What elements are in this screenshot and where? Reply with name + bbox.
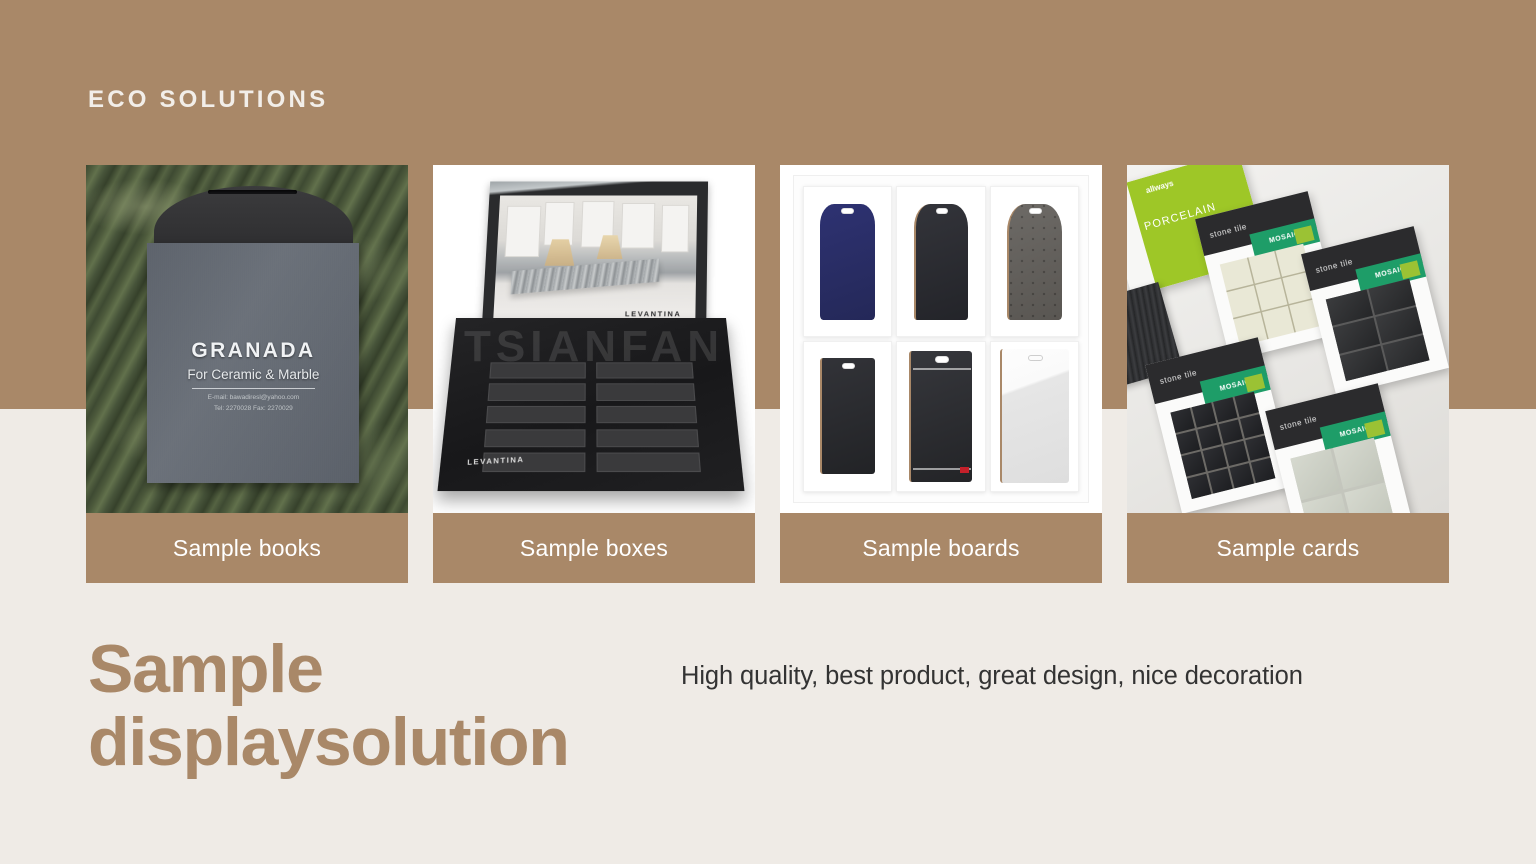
swatch-tile: [1203, 447, 1227, 472]
caption-sample-boxes: Sample boxes: [433, 513, 755, 583]
board-handle-slot: [1029, 208, 1042, 214]
swatch-tile: [1187, 474, 1211, 499]
sample-boards-photo: [780, 165, 1102, 513]
board-red-accent: [960, 467, 970, 472]
caption-sample-cards: Sample cards: [1127, 513, 1449, 583]
sample-cards-row: GRANADA For Ceramic & Marble E-mail: baw…: [86, 165, 1450, 583]
swatch-tile: [1208, 469, 1232, 494]
box-compartment: [489, 362, 586, 378]
swatch-tile: [1230, 464, 1254, 489]
box-lid-kitchen-photo: LEVANTINA: [493, 196, 697, 331]
book-contact-line-1: E-mail: bawadiresl@yahoo.com: [147, 393, 359, 402]
card-brand-label: stone tile: [1315, 257, 1354, 275]
swatch-tile: [1192, 403, 1216, 428]
box-compartment: [596, 384, 695, 401]
swatch-tile: [1290, 448, 1341, 500]
swatch-tile: [1333, 438, 1384, 490]
eyebrow-label: ECO SOLUTIONS: [88, 86, 328, 114]
caption-sample-boards: Sample boards: [780, 513, 1102, 583]
sample-card-boxes[interactable]: LEVANTINA: [433, 165, 755, 583]
swatch-tile: [1182, 452, 1206, 477]
kitchen-cabinet: [621, 204, 656, 249]
sample-card-cards[interactable]: allways PORCELAIN stone tile MOSAIC st: [1127, 165, 1449, 583]
boards-grid: [803, 186, 1080, 492]
boards-frame: [793, 175, 1089, 502]
swatch-tile: [1224, 442, 1248, 467]
board-thumb: [896, 186, 986, 337]
kitchen-granite-counter: [511, 259, 660, 295]
board-thumb: [990, 186, 1080, 337]
card-brand-label: stone tile: [1279, 414, 1318, 432]
sample-book-object: GRANADA For Ceramic & Marble E-mail: baw…: [141, 186, 366, 489]
box-compartment: [487, 384, 586, 401]
board-black-arched: [914, 204, 968, 320]
page-tagline: High quality, best product, great design…: [681, 662, 1303, 691]
swatch-tile: [1245, 436, 1269, 461]
book-handle-slot: [208, 190, 297, 194]
mosaic-card-dark: stone tile MOSAIC: [1301, 226, 1449, 396]
card-brand-label: stone tile: [1159, 369, 1198, 387]
board-gray-dotted: [1007, 204, 1061, 320]
box-compartment: [483, 429, 585, 447]
swatch-tile: [1176, 430, 1200, 455]
swatch-black-mosaic: [1171, 392, 1276, 499]
book-brand-label: GRANADA: [147, 339, 359, 363]
box-base: LEVANTINA: [437, 318, 745, 491]
board-thumb: [990, 341, 1080, 492]
sample-card-boards[interactable]: Sample boards: [780, 165, 1102, 583]
box-compartment: [596, 453, 700, 472]
slide-root: ECO SOLUTIONS GRANADA For Ceramic & Marb…: [0, 0, 1536, 864]
board-stripe: [913, 368, 970, 370]
card-brand-label: stone tile: [1208, 222, 1247, 240]
sample-cards-photo: allways PORCELAIN stone tile MOSAIC st: [1127, 165, 1449, 513]
kitchen-cabinet: [505, 206, 541, 257]
sample-card-books[interactable]: GRANADA For Ceramic & Marble E-mail: baw…: [86, 165, 408, 583]
box-compartment-grid: [482, 362, 700, 472]
swatch-tile: [1219, 420, 1243, 445]
swatch-pale-mosaic: [1290, 438, 1395, 513]
swatch-tile: [1240, 414, 1264, 439]
board-handle-slot: [936, 208, 949, 214]
board-handle-slot: [1028, 355, 1044, 362]
mosaic-card-pale: stone tile MOSAIC: [1265, 383, 1415, 513]
book-subtitle-label: For Ceramic & Marble: [147, 367, 359, 382]
swatch-tile: [1251, 458, 1275, 483]
board-handle-slot: [935, 356, 950, 363]
board-thumb: [803, 186, 893, 337]
box-compartment: [485, 406, 585, 424]
board-black-detail: [909, 351, 972, 482]
swatch-tile: [1213, 398, 1237, 423]
box-compartment: [596, 362, 693, 378]
box-compartment: [596, 429, 698, 447]
board-navy: [820, 204, 874, 320]
swatch-tile: [1234, 392, 1258, 417]
kitchen-cabinet: [661, 205, 690, 253]
board-black-rect: [820, 358, 874, 474]
swatch-tile: [1197, 425, 1221, 450]
board-thumb: [896, 341, 986, 492]
box-compartment: [596, 406, 696, 424]
board-thumb: [803, 341, 893, 492]
page-title: Sample displaysolution: [88, 633, 569, 780]
book-contact-line-2: Tel: 2270028 Fax: 2270029: [147, 404, 359, 413]
book-body: GRANADA For Ceramic & Marble E-mail: baw…: [147, 243, 359, 482]
swatch-tile: [1171, 408, 1195, 433]
sample-books-photo: GRANADA For Ceramic & Marble E-mail: baw…: [86, 165, 408, 513]
board-white: [1000, 349, 1068, 483]
sample-boxes-photo: LEVANTINA: [433, 165, 755, 513]
board-handle-slot: [841, 208, 854, 214]
book-divider: [192, 388, 315, 389]
book-handle-panel: [154, 186, 352, 247]
caption-sample-books: Sample books: [86, 513, 408, 583]
board-handle-slot: [842, 363, 855, 369]
swatch-dark-brick: [1325, 279, 1429, 382]
